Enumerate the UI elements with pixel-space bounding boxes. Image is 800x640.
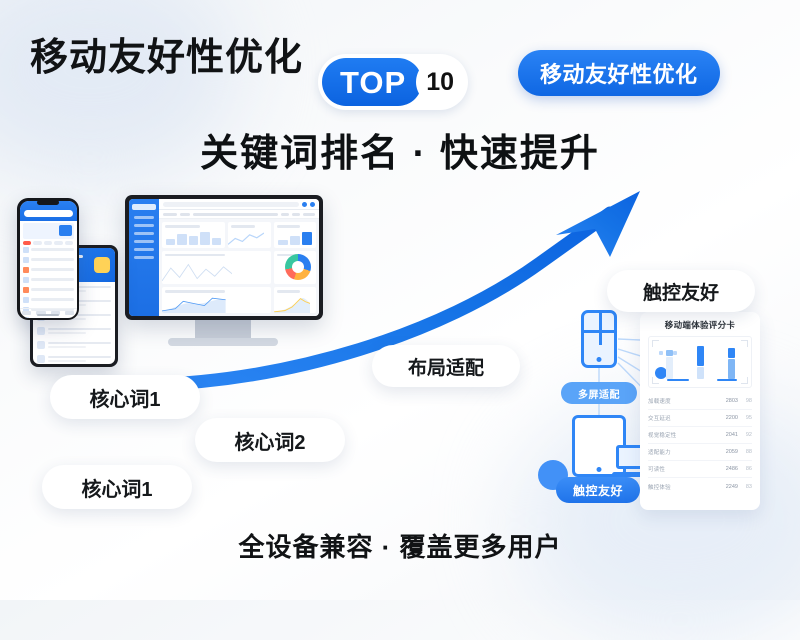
score-card-title: 移动端体验评分卡 <box>648 319 752 331</box>
row-value: 2486 <box>714 466 738 472</box>
page-title: 移动友好性优化 <box>30 26 303 81</box>
row-pct: 95 <box>738 415 752 421</box>
monitor-stand <box>195 320 251 338</box>
desktop-screen <box>129 199 319 316</box>
score-card-rows: 加载速度 2803 98 交互延迟 2200 95 视觉稳定性 2041 92 … <box>648 393 752 495</box>
row-name: 加载速度 <box>648 397 714 405</box>
table-row: 适配能力 2059 88 <box>648 444 752 461</box>
row-name: 交互延迟 <box>648 414 714 422</box>
list-item <box>23 287 74 293</box>
page-subtitle: 关键词排名 · 快速提升 <box>0 122 800 177</box>
list-item <box>37 327 111 335</box>
row-name: 可读性 <box>648 465 714 473</box>
row-value: 2041 <box>714 432 738 438</box>
chip-keyword-2: 核心词2 <box>195 418 345 462</box>
list-item <box>23 247 74 253</box>
poster-canvas: 移动友好性优化 TOP 10 移动友好性优化 关键词排名 · 快速提升 <box>0 0 800 600</box>
dashboard-widgets <box>159 219 319 316</box>
row-value: 2059 <box>714 449 738 455</box>
chip-keyword-1: 核心词1 <box>50 375 200 419</box>
row-name: 适配能力 <box>648 448 714 456</box>
chip-layout-adapt-label: 布局适配 <box>408 353 484 380</box>
chip-touch-friendly: 触控友好 <box>607 270 755 312</box>
row-value: 2200 <box>714 415 738 421</box>
header-tag-label: 移动友好性优化 <box>540 57 698 89</box>
row-value: 2803 <box>714 398 738 404</box>
table-row: 视觉稳定性 2041 92 <box>648 427 752 444</box>
diagram-pill-multiscreen: 多屏适配 <box>561 382 637 404</box>
chart-bars <box>657 341 743 379</box>
top-number: 10 <box>426 70 454 95</box>
chip-keyword-2-label: 核心词2 <box>234 426 305 455</box>
row-pct: 98 <box>738 398 752 404</box>
row-pct: 86 <box>738 466 752 472</box>
diagram-small-phone-icon <box>581 310 617 368</box>
chip-keyword-3: 核心词1 <box>42 465 192 509</box>
chip-touch-friendly-label: 触控友好 <box>643 278 719 305</box>
diagram-pill-multiscreen-label: 多屏适配 <box>578 386 620 401</box>
chip-layout-adapt: 布局适配 <box>372 345 520 387</box>
list-item <box>23 267 74 273</box>
list-item <box>37 355 111 363</box>
table-row: 加载速度 2803 98 <box>648 393 752 410</box>
top-number-circle: 10 <box>416 58 464 106</box>
table-row: 触控体验 2249 83 <box>648 478 752 495</box>
footer-tagline: 全设备兼容 · 覆盖更多用户 <box>0 527 800 564</box>
table-row: 交互延迟 2200 95 <box>648 410 752 427</box>
chip-keyword-1-label: 核心词1 <box>89 383 160 412</box>
row-pct: 92 <box>738 432 752 438</box>
list-item <box>23 297 74 303</box>
row-name: 触控体验 <box>648 483 714 491</box>
mobile-score-card: 移动端体验评分卡 加载速度 2803 98 交互延迟 <box>640 312 760 510</box>
phone-tabbar <box>20 308 77 318</box>
list-item <box>23 257 74 263</box>
dashboard-main <box>159 199 319 316</box>
score-card-chart <box>648 336 752 388</box>
row-name: 视觉稳定性 <box>648 431 714 439</box>
table-row: 可读性 2486 86 <box>648 461 752 478</box>
header-tag-pill: 移动友好性优化 <box>518 50 720 96</box>
monitor-base <box>168 338 278 346</box>
list-item <box>37 341 111 349</box>
device-mockup-group <box>20 190 340 370</box>
phone-screen <box>20 201 77 318</box>
row-pct: 88 <box>738 449 752 455</box>
dashboard-toolbar <box>159 210 319 219</box>
diagram-pill-touch: 触控友好 <box>556 477 640 503</box>
dashboard-topbar <box>159 199 319 210</box>
desktop-monitor <box>125 195 323 320</box>
chip-keyword-3-label: 核心词1 <box>81 473 152 502</box>
top-label: TOP <box>340 67 406 98</box>
dashboard-sidebar <box>129 199 159 316</box>
top-label-pill: TOP <box>322 58 422 106</box>
phone-tab-strip <box>20 241 77 245</box>
row-pct: 83 <box>738 484 752 490</box>
phone-device <box>17 198 79 320</box>
list-item <box>23 277 74 283</box>
row-value: 2249 <box>714 484 738 490</box>
phone-notch <box>37 200 59 205</box>
search-input <box>24 210 73 217</box>
phone-home-indicator <box>37 314 59 316</box>
diagram-pill-touch-label: 触控友好 <box>573 482 623 499</box>
top-rank-badge: TOP 10 <box>318 54 468 110</box>
phone-promo-card <box>23 223 74 239</box>
